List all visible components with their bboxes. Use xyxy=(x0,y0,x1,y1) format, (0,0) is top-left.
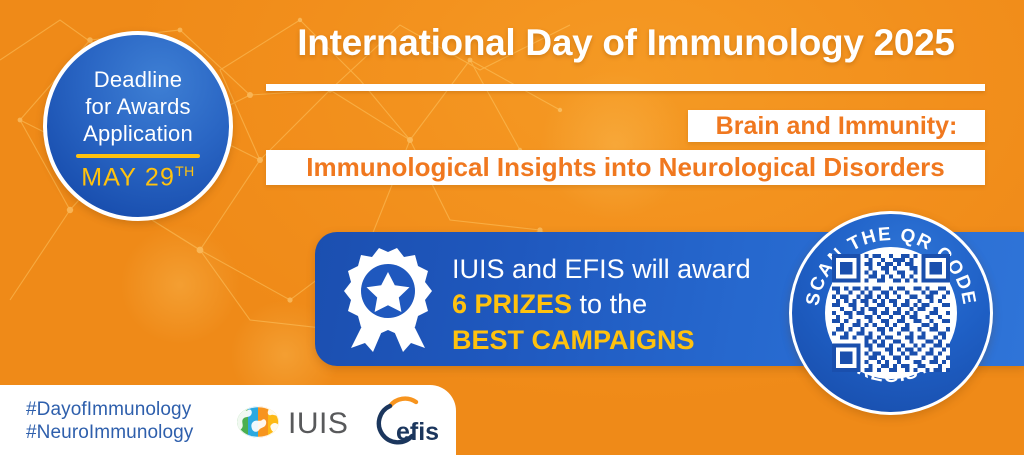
prize-line-2-rest: to the xyxy=(572,289,647,319)
deadline-divider xyxy=(76,154,200,158)
prize-text-block: IUIS and EFIS will award 6 PRIZES to the… xyxy=(452,252,751,358)
prize-line-2: 6 PRIZES to the xyxy=(452,286,751,322)
immunology-day-banner: International Day of Immunology 2025 Bra… xyxy=(0,0,1024,455)
prize-line-3: BEST CAMPAIGNS xyxy=(452,322,751,358)
deadline-date: MAY 29TH xyxy=(81,163,195,192)
award-medal-icon xyxy=(337,248,439,352)
deadline-line-1: Deadline xyxy=(94,66,182,93)
iuis-wordmark: IUIS xyxy=(288,407,348,440)
hashtag-neuro-immunology: #NeuroImmunology xyxy=(26,421,193,444)
title-divider xyxy=(266,84,985,91)
deadline-date-main: MAY 29 xyxy=(81,163,175,191)
page-title: International Day of Immunology 2025 xyxy=(266,22,986,64)
theme-title-box: Brain and Immunity: xyxy=(688,110,985,142)
qr-register-badge[interactable]: SCAN THE QR CODE TO REGISTER xyxy=(789,211,993,415)
efis-logo: efis xyxy=(372,396,454,448)
deadline-date-suffix: TH xyxy=(175,163,195,179)
qr-code[interactable] xyxy=(832,254,950,372)
prize-count-highlight: 6 PRIZES xyxy=(452,289,572,319)
theme-subtitle-box: Immunological Insights into Neurological… xyxy=(266,150,985,185)
deadline-badge: Deadline for Awards Application MAY 29TH xyxy=(43,31,233,221)
efis-wordmark: efis xyxy=(396,418,439,446)
hashtags: #DayofImmunology #NeuroImmunology xyxy=(26,398,193,444)
prize-line-1: IUIS and EFIS will award xyxy=(452,252,751,286)
deadline-line-3: Application xyxy=(83,120,193,147)
iuis-logo: IUIS xyxy=(236,400,358,444)
deadline-line-2: for Awards xyxy=(85,93,191,120)
qr-code-container[interactable] xyxy=(825,247,957,379)
hashtag-day-of-immunology: #DayofImmunology xyxy=(26,398,193,421)
